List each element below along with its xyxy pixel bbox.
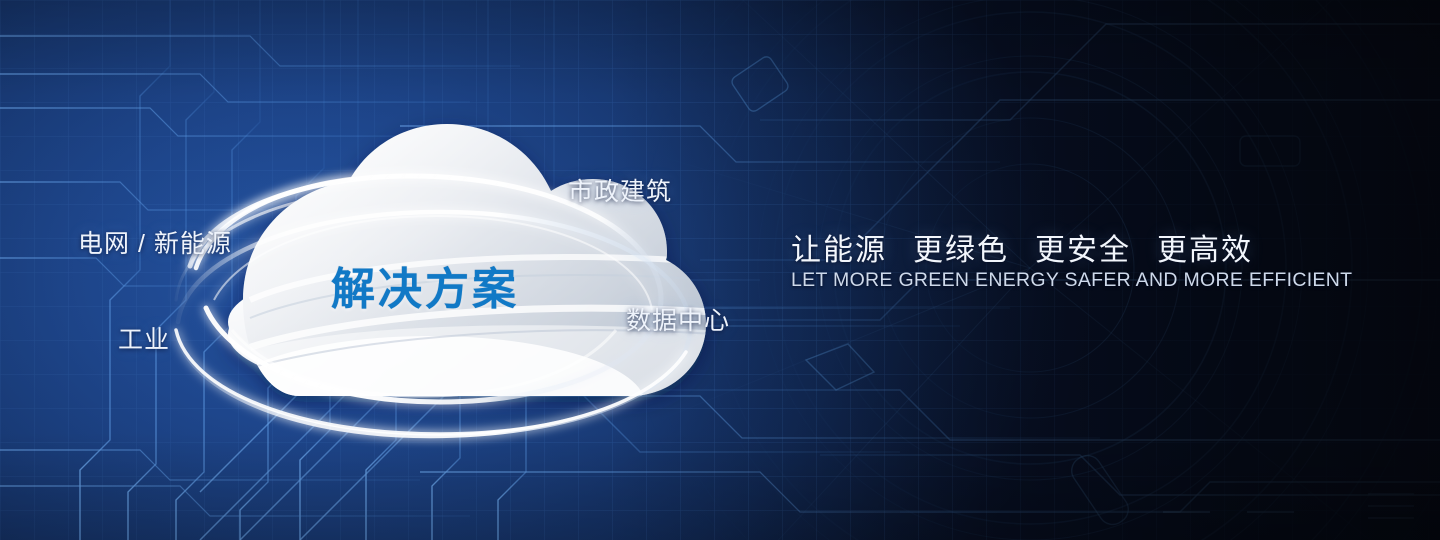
slogan-english: LET MORE GREEN ENERGY SAFER AND MORE EFF… (791, 269, 1352, 292)
slogan-part-2: 更绿色 (913, 225, 1009, 269)
slogan-chinese: 让能源更绿色更安全更高效 (791, 225, 1253, 269)
hero-banner: 解决方案 电网 / 新能源 工业 市政建筑 数据中心 让能源更绿色更安全更高效 … (0, 0, 1440, 540)
label-municipal: 市政建筑 (568, 172, 672, 208)
slogan-part-4: 更高效 (1157, 225, 1253, 269)
label-data-center: 数据中心 (626, 301, 730, 337)
label-grid-new-energy: 电网 / 新能源 (78, 224, 232, 260)
cloud-title: 解决方案 (331, 253, 519, 317)
slogan-part-3: 更安全 (1035, 225, 1131, 269)
label-industry: 工业 (118, 320, 170, 356)
slogan-part-1: 让能源 (791, 225, 887, 269)
